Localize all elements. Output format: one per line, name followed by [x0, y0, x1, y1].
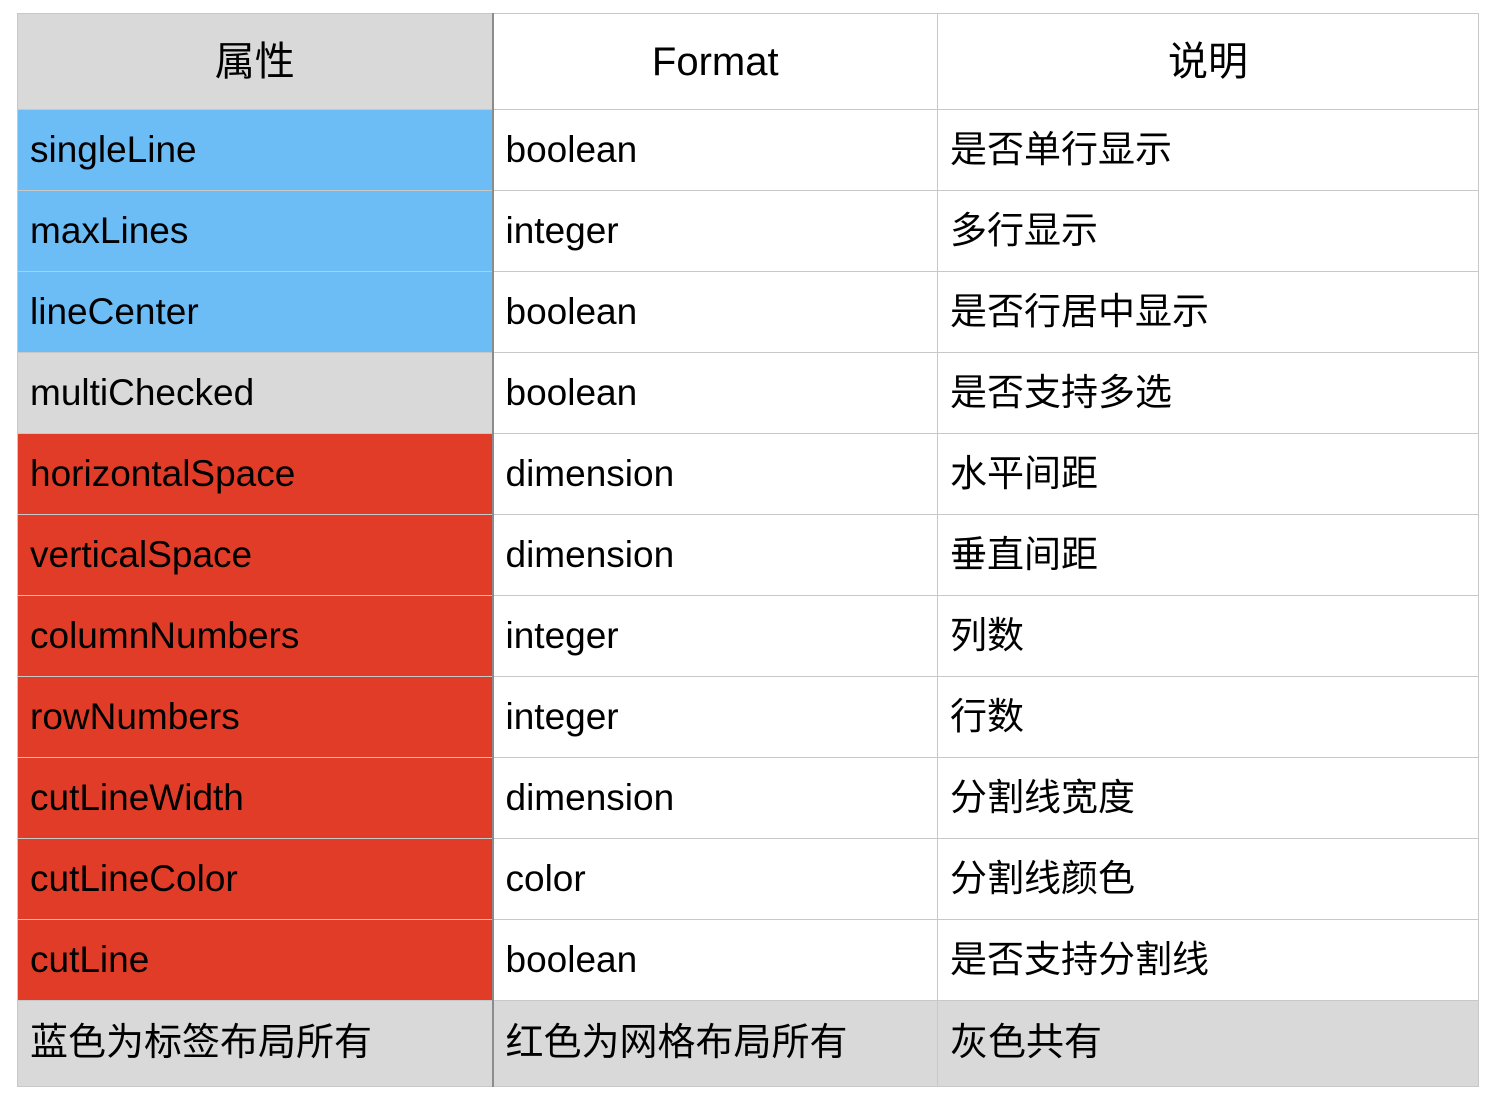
cell-description: 垂直间距	[938, 515, 1479, 596]
cell-attribute: cutLineWidth	[18, 758, 493, 839]
column-header-attribute-label: 属性	[30, 41, 480, 83]
cell-description: 是否支持分割线	[938, 920, 1479, 1001]
cell-format: dimension	[493, 515, 938, 596]
description-text: 是否行居中显示	[950, 293, 1466, 332]
legend-red-cell: 红色为网格布局所有	[493, 1001, 938, 1087]
table-body: singleLine boolean 是否单行显示 maxLines integ…	[18, 110, 1479, 1087]
format-value: integer	[506, 698, 926, 737]
format-value: boolean	[506, 374, 926, 413]
table-header-row: 属性 Format 说明	[18, 14, 1479, 110]
attribute-name: cutLine	[30, 941, 480, 980]
column-header-format-label: Format	[506, 41, 926, 83]
description-text: 行数	[950, 698, 1466, 737]
legend-row: 蓝色为标签布局所有 红色为网格布局所有 灰色共有	[18, 1001, 1479, 1087]
cell-attribute: cutLine	[18, 920, 493, 1001]
table-row: lineCenter boolean 是否行居中显示	[18, 272, 1479, 353]
attribute-format-table: 属性 Format 说明 singleLine boolean 是否单	[17, 13, 1479, 1087]
attribute-name: cutLineColor	[30, 860, 480, 899]
cell-format: boolean	[493, 920, 938, 1001]
table-row: columnNumbers integer 列数	[18, 596, 1479, 677]
description-text: 分割线宽度	[950, 779, 1466, 818]
column-header-description: 说明	[938, 14, 1479, 110]
table-row: rowNumbers integer 行数	[18, 677, 1479, 758]
attribute-name: verticalSpace	[30, 536, 480, 575]
cell-attribute: columnNumbers	[18, 596, 493, 677]
table-row: verticalSpace dimension 垂直间距	[18, 515, 1479, 596]
attribute-name: rowNumbers	[30, 698, 480, 737]
cell-description: 分割线颜色	[938, 839, 1479, 920]
description-text: 列数	[950, 617, 1466, 656]
format-value: boolean	[506, 131, 926, 170]
format-value: dimension	[506, 779, 926, 818]
column-header-attribute: 属性	[18, 14, 493, 110]
format-value: dimension	[506, 536, 926, 575]
table-header: 属性 Format 说明	[18, 14, 1479, 110]
attribute-name: singleLine	[30, 131, 480, 170]
format-value: boolean	[506, 293, 926, 332]
table-row: maxLines integer 多行显示	[18, 191, 1479, 272]
table-row: multiChecked boolean 是否支持多选	[18, 353, 1479, 434]
cell-format: boolean	[493, 272, 938, 353]
table-row: singleLine boolean 是否单行显示	[18, 110, 1479, 191]
table-row: cutLineColor color 分割线颜色	[18, 839, 1479, 920]
format-value: dimension	[506, 455, 926, 494]
cell-format: color	[493, 839, 938, 920]
cell-format: integer	[493, 677, 938, 758]
cell-attribute: lineCenter	[18, 272, 493, 353]
description-text: 多行显示	[950, 212, 1466, 251]
cell-attribute: singleLine	[18, 110, 493, 191]
description-text: 垂直间距	[950, 536, 1466, 575]
cell-description: 水平间距	[938, 434, 1479, 515]
attribute-reference-sheet: 属性 Format 说明 singleLine boolean 是否单	[17, 13, 1478, 1087]
legend-gray-label: 灰色共有	[950, 1024, 1466, 1064]
description-text: 是否支持分割线	[950, 941, 1466, 980]
table-row: cutLineWidth dimension 分割线宽度	[18, 758, 1479, 839]
cell-description: 行数	[938, 677, 1479, 758]
cell-description: 是否支持多选	[938, 353, 1479, 434]
column-header-format: Format	[493, 14, 938, 110]
cell-attribute: cutLineColor	[18, 839, 493, 920]
format-value: integer	[506, 212, 926, 251]
cell-format: integer	[493, 596, 938, 677]
attribute-name: lineCenter	[30, 293, 480, 332]
table-row: cutLine boolean 是否支持分割线	[18, 920, 1479, 1001]
cell-description: 列数	[938, 596, 1479, 677]
description-text: 水平间距	[950, 455, 1466, 494]
cell-attribute: rowNumbers	[18, 677, 493, 758]
attribute-name: multiChecked	[30, 374, 480, 413]
format-value: boolean	[506, 941, 926, 980]
legend-blue-cell: 蓝色为标签布局所有	[18, 1001, 493, 1087]
cell-description: 是否单行显示	[938, 110, 1479, 191]
cell-attribute: verticalSpace	[18, 515, 493, 596]
format-value: integer	[506, 617, 926, 656]
cell-format: boolean	[493, 353, 938, 434]
format-value: color	[506, 860, 926, 899]
cell-format: dimension	[493, 434, 938, 515]
cell-description: 分割线宽度	[938, 758, 1479, 839]
cell-format: dimension	[493, 758, 938, 839]
attribute-name: columnNumbers	[30, 617, 480, 656]
cell-format: boolean	[493, 110, 938, 191]
table-row: horizontalSpace dimension 水平间距	[18, 434, 1479, 515]
cell-attribute: multiChecked	[18, 353, 493, 434]
attribute-name: cutLineWidth	[30, 779, 480, 818]
cell-description: 是否行居中显示	[938, 272, 1479, 353]
attribute-name: horizontalSpace	[30, 455, 480, 494]
legend-gray-cell: 灰色共有	[938, 1001, 1479, 1087]
attribute-name: maxLines	[30, 212, 480, 251]
legend-red-label: 红色为网格布局所有	[506, 1024, 926, 1064]
cell-attribute: horizontalSpace	[18, 434, 493, 515]
cell-description: 多行显示	[938, 191, 1479, 272]
cell-format: integer	[493, 191, 938, 272]
description-text: 是否支持多选	[950, 374, 1466, 413]
legend-blue-label: 蓝色为标签布局所有	[30, 1024, 480, 1064]
column-header-description-label: 说明	[950, 41, 1466, 83]
description-text: 分割线颜色	[950, 860, 1466, 899]
cell-attribute: maxLines	[18, 191, 493, 272]
description-text: 是否单行显示	[950, 131, 1466, 170]
